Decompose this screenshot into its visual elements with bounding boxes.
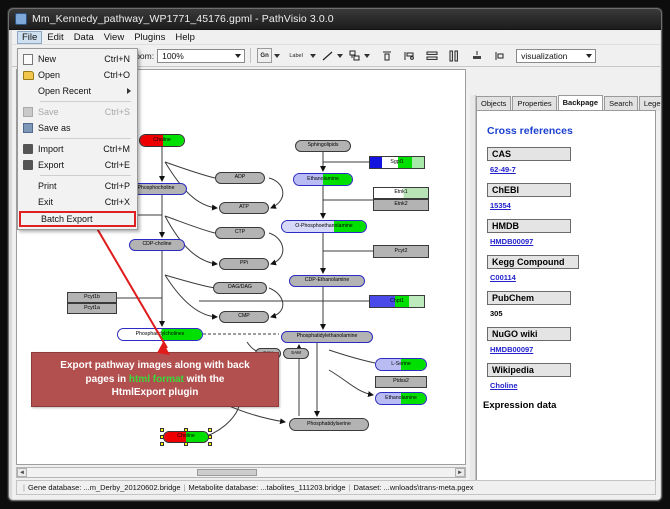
- menu-plugins[interactable]: Plugins: [129, 31, 170, 44]
- menu-divider: [40, 138, 131, 139]
- xref-source-pubchem: PubChem: [487, 291, 571, 305]
- xref-source-hmdb: HMDB: [487, 219, 571, 233]
- xref-value-chebi[interactable]: 15354: [490, 201, 655, 210]
- gene-ptdss2[interactable]: Ptdss2: [375, 376, 427, 388]
- label-dropdown-icon[interactable]: [310, 54, 316, 58]
- export-icon: [18, 160, 38, 170]
- node-cdp-ethanolamine[interactable]: CDP-Ethanolamine: [289, 275, 365, 287]
- tab-backpage[interactable]: Backpage: [558, 95, 603, 111]
- node-choline-top[interactable]: Choline: [139, 134, 185, 147]
- save-icon: [18, 107, 38, 117]
- xref-value-wikipedia[interactable]: Choline: [490, 381, 655, 390]
- node-adp[interactable]: ADP: [215, 172, 265, 184]
- save-as-icon: [18, 123, 38, 133]
- datanode-button[interactable]: Gn: [257, 48, 272, 63]
- file-menu-dropdown: New Ctrl+N Open Ctrl+O Open Recent Save …: [17, 48, 138, 230]
- menu-data[interactable]: Data: [69, 31, 99, 44]
- node-phosphatidylserine[interactable]: Phosphatidylserine: [289, 418, 369, 431]
- line-button[interactable]: [320, 48, 335, 63]
- window-client-area: File Edit Data View Plugins Help Zoom: 1…: [12, 30, 660, 499]
- gene-sgpl1[interactable]: Sgpl1: [369, 156, 425, 169]
- xref-source-nugo-wiki: NuGO wiki: [487, 327, 571, 341]
- gene-etnk2[interactable]: Etnk2: [373, 199, 429, 211]
- node-cmp[interactable]: CMP: [219, 311, 269, 323]
- selection-handle[interactable]: [184, 442, 188, 446]
- xref-value-kegg-compound[interactable]: C00114: [490, 273, 655, 282]
- annotation-highlight: html format: [129, 374, 184, 385]
- status-gene-database-label: Gene database:: [28, 483, 81, 492]
- xref-source-chebi: ChEBI: [487, 183, 571, 197]
- selection-handle[interactable]: [160, 428, 164, 432]
- node-cdp-choline[interactable]: CDP-choline: [129, 239, 185, 251]
- visualization-combo[interactable]: visualization: [516, 49, 596, 63]
- menu-item-new[interactable]: New Ctrl+N: [18, 51, 137, 67]
- node-ethanolamine[interactable]: Ethanolamine: [293, 173, 353, 186]
- stack-button[interactable]: [469, 48, 484, 63]
- import-icon: [18, 144, 38, 154]
- menu-divider: [40, 101, 131, 102]
- menu-file[interactable]: File: [17, 31, 42, 44]
- status-metabolite-database-label: Metabolite database:: [189, 483, 259, 492]
- app-frame: Mm_Kennedy_pathway_WP1771_45176.gpml - P…: [0, 0, 670, 509]
- tab-search[interactable]: Search: [604, 96, 638, 111]
- annotation-line-3: HtmlExport plugin: [112, 386, 199, 400]
- selection-handle[interactable]: [184, 428, 188, 432]
- selection-handle[interactable]: [208, 428, 212, 432]
- cross-references-title: Cross references: [487, 125, 655, 137]
- menu-item-print[interactable]: Print Ctrl+P: [18, 178, 137, 194]
- node-ppi[interactable]: PPi: [219, 258, 269, 270]
- window-title: Mm_Kennedy_pathway_WP1771_45176.gpml - P…: [32, 13, 334, 25]
- xref-source-cas: CAS: [487, 147, 571, 161]
- zoom-combo[interactable]: 100%: [157, 49, 245, 63]
- menu-item-open-recent[interactable]: Open Recent: [18, 83, 137, 99]
- gene-pcyt1a[interactable]: Pcyt1a: [67, 303, 117, 314]
- menu-divider: [40, 175, 131, 176]
- selection-handle[interactable]: [160, 435, 164, 439]
- chevron-down-icon: [586, 54, 592, 58]
- menu-edit[interactable]: Edit: [42, 31, 68, 44]
- status-metabolite-database-value: ...tabolites_111203.bridge: [260, 483, 345, 492]
- selection-handle[interactable]: [208, 442, 212, 446]
- xref-source-wikipedia: Wikipedia: [487, 363, 571, 377]
- menu-item-save: Save Ctrl+S: [18, 104, 137, 120]
- status-gene-database-value: ...m_Derby_20120602.bridge: [83, 483, 180, 492]
- annotation-line-2-suffix: with the: [184, 374, 225, 385]
- gene-chpt1[interactable]: Chpt1: [369, 295, 425, 308]
- side-panel: Objects Properties Backpage Search Legen…: [470, 69, 656, 493]
- scroll-left-arrow[interactable]: ◄: [17, 468, 27, 477]
- annotation-line-1: Export pathway images along with back: [60, 359, 250, 373]
- status-bar: | Gene database: ...m_Derby_20120602.bri…: [16, 480, 656, 495]
- menu-item-import[interactable]: Import Ctrl+M: [18, 141, 137, 157]
- new-file-icon: [18, 54, 38, 65]
- tab-properties[interactable]: Properties: [512, 96, 556, 111]
- xref-source-kegg-compound: Kegg Compound: [487, 255, 579, 269]
- expression-data-title: Expression data: [483, 400, 655, 411]
- gene-pcyt2[interactable]: Pcyt2: [373, 245, 429, 258]
- annotation-line-2-prefix: pages in: [86, 374, 129, 385]
- align-left-button[interactable]: [401, 48, 416, 63]
- shape-button[interactable]: [347, 48, 362, 63]
- node-ethanolamine-2[interactable]: Ethanolamine: [375, 392, 427, 405]
- line-dropdown-icon[interactable]: [337, 54, 343, 58]
- status-dataset-value: ...wnloads\trans-meta.pgex: [383, 483, 473, 492]
- side-panel-tabs: Objects Properties Backpage Search Legen…: [476, 95, 656, 111]
- xref-value-pubchem: 305: [490, 309, 655, 318]
- menu-item-export[interactable]: Export Ctrl+E: [18, 157, 137, 173]
- node-ctp[interactable]: CTP: [215, 227, 265, 239]
- pathvisio-icon: [15, 13, 27, 25]
- shape-dropdown-icon[interactable]: [364, 54, 370, 58]
- chevron-down-icon: [235, 54, 241, 58]
- node-o-phosphoethanolamine[interactable]: O-Phosphoethanolamine: [281, 220, 367, 233]
- node-phosphatidylcholines[interactable]: Phosphatidylcholines: [117, 328, 203, 341]
- zoom-value: 100%: [162, 51, 184, 61]
- selection-handle[interactable]: [160, 442, 164, 446]
- status-dataset-label: Dataset:: [353, 483, 381, 492]
- xref-value-cas[interactable]: 62-49-7: [490, 165, 655, 174]
- tab-legend[interactable]: Legend: [639, 96, 662, 111]
- visualization-value: visualization: [521, 51, 567, 61]
- xref-value-nugo-wiki[interactable]: HMDB00097: [490, 345, 655, 354]
- menu-item-batch-export[interactable]: Batch Export: [19, 211, 136, 227]
- node-sphingolipids[interactable]: Sphingolipids: [295, 140, 351, 152]
- datanode-dropdown-icon[interactable]: [274, 54, 280, 58]
- distribute-vertical-button[interactable]: [446, 48, 461, 63]
- folder-open-icon: [18, 71, 38, 80]
- pathvisio-window: Mm_Kennedy_pathway_WP1771_45176.gpml - P…: [8, 8, 662, 501]
- selection-handle[interactable]: [208, 435, 212, 439]
- submenu-arrow-icon: [127, 88, 131, 94]
- backpage-content: Cross references CAS 62-49-7 ChEBI 15354…: [476, 110, 656, 492]
- tab-objects[interactable]: Objects: [476, 96, 511, 111]
- menu-bar: File Edit Data View Plugins Help: [12, 30, 660, 45]
- scroll-thumb[interactable]: [197, 469, 257, 476]
- scroll-right-arrow[interactable]: ►: [455, 468, 465, 477]
- label-button[interactable]: Label: [284, 48, 308, 63]
- toolbar-separator: [250, 48, 251, 63]
- node-dag[interactable]: DAG/DAG: [213, 282, 267, 294]
- menu-help[interactable]: Help: [170, 31, 200, 44]
- node-phosphatidylethanolamine[interactable]: Phosphatidylethanolamine: [281, 331, 373, 343]
- gene-pcyt1b[interactable]: Pcyt1b: [67, 292, 117, 303]
- menu-item-save-as[interactable]: Save as: [18, 120, 137, 136]
- node-l-serine[interactable]: L-Serine: [375, 358, 427, 371]
- annotation-line-2: pages in html format with the: [86, 373, 225, 387]
- canvas-horizontal-scrollbar[interactable]: ◄ ►: [16, 467, 466, 478]
- menu-item-open[interactable]: Open Ctrl+O: [18, 67, 137, 83]
- node-atp[interactable]: ATP: [219, 202, 269, 214]
- group-button[interactable]: [492, 48, 507, 63]
- align-top-button[interactable]: [379, 48, 394, 63]
- gene-etnk1[interactable]: Etnk1: [373, 187, 429, 199]
- title-bar: Mm_Kennedy_pathway_WP1771_45176.gpml - P…: [9, 9, 662, 30]
- node-sam[interactable]: SAM: [283, 348, 309, 359]
- menu-item-exit[interactable]: Exit Ctrl+X: [18, 194, 137, 210]
- distribute-horizontal-button[interactable]: [424, 48, 439, 63]
- annotation-callout: Export pathway images along with back pa…: [31, 352, 279, 407]
- xref-value-hmdb[interactable]: HMDB00097: [490, 237, 655, 246]
- menu-view[interactable]: View: [99, 31, 129, 44]
